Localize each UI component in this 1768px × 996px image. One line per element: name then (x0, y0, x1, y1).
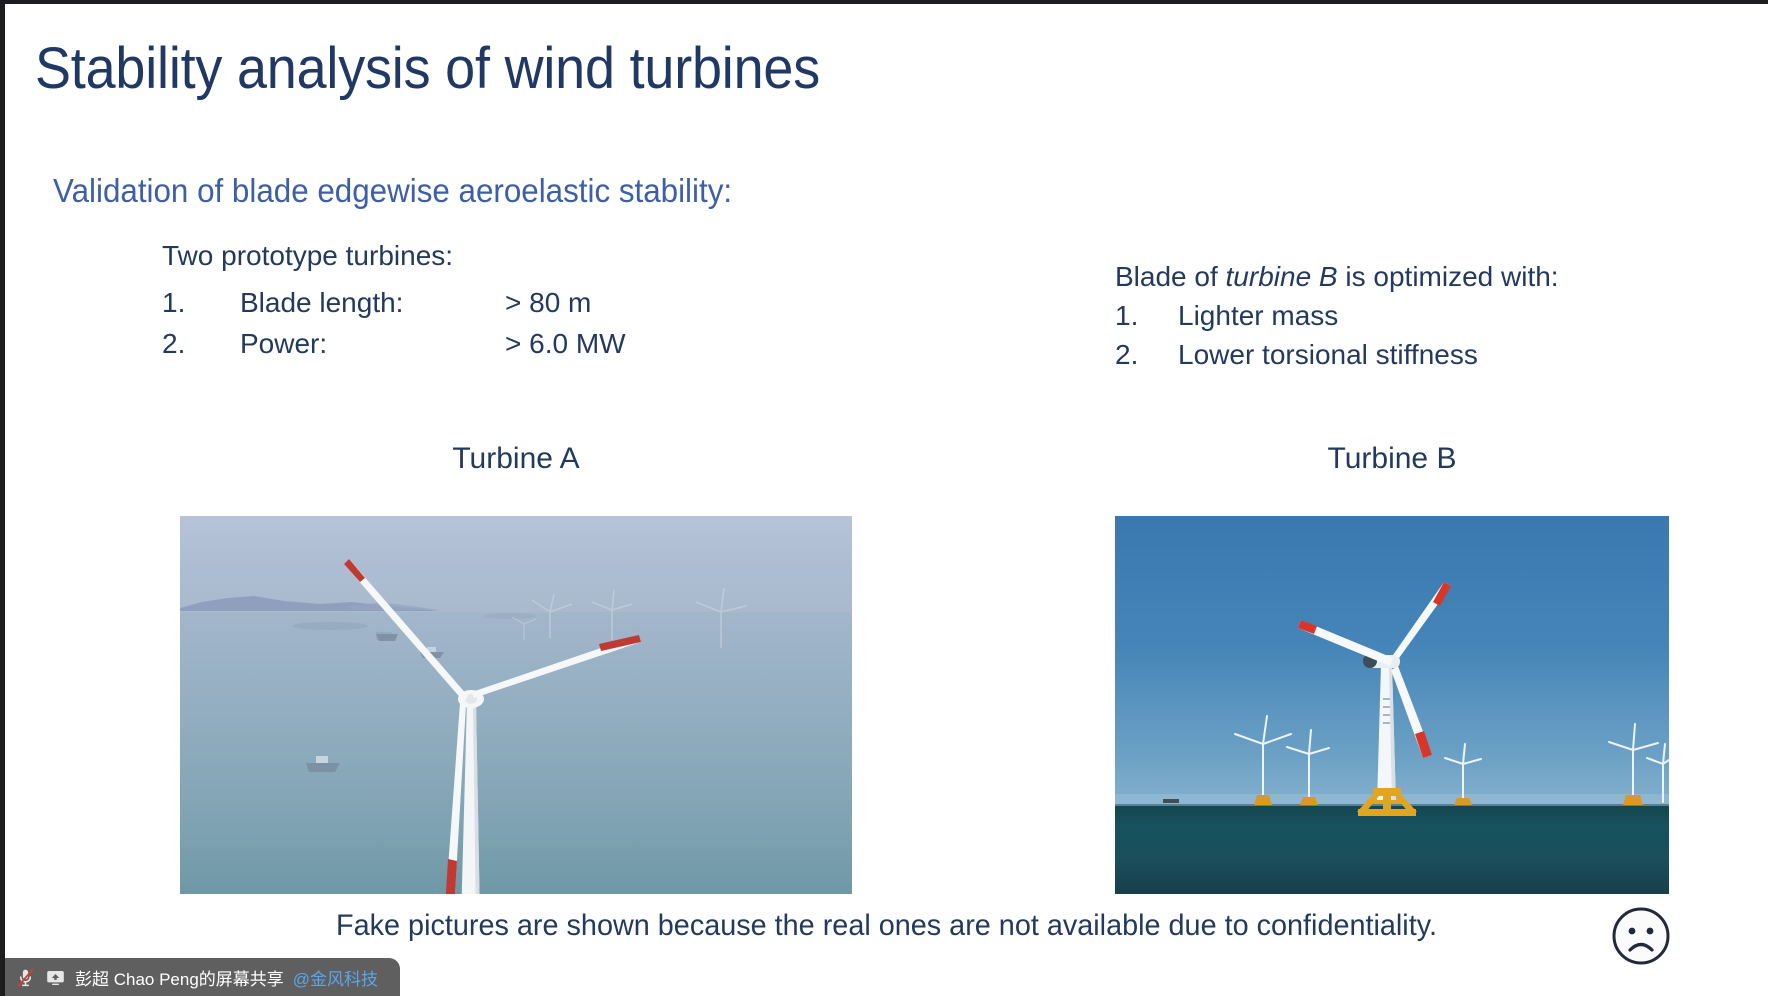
list-item-number: 1. (162, 287, 240, 319)
sad-face-icon (1609, 904, 1673, 968)
list-item-number: 1. (1115, 300, 1178, 332)
heading-text-after: is optimized with: (1338, 261, 1559, 292)
right-column-heading: Blade of turbine B is optimized with: (1115, 261, 1559, 293)
screen-share-status-bar[interactable]: 彭超 Chao Peng的屏幕共享 @金风科技 (5, 958, 400, 996)
list-item: 1. Lighter mass (1115, 300, 1559, 332)
list-item-value: > 6.0 MW (505, 328, 626, 360)
figure-image-turbine-a (180, 516, 852, 894)
screen-share-window: Stability analysis of wind turbines Vali… (0, 0, 1768, 996)
list-item-number: 2. (1115, 339, 1178, 371)
microphone-muted-icon[interactable] (15, 967, 36, 988)
heading-text-emphasis: turbine B (1226, 261, 1338, 292)
list-item-label: Power: (240, 328, 505, 360)
share-org-label: @金风科技 (293, 965, 378, 990)
figure-caption-turbine-a: Turbine A (180, 442, 852, 476)
page-title: Stability analysis of wind turbines (35, 40, 820, 98)
list-item-value: > 80 m (505, 287, 591, 319)
list-item-label: Lighter mass (1178, 300, 1338, 332)
presentation-slide: Stability analysis of wind turbines Vali… (5, 4, 1768, 996)
right-text-column: Blade of turbine B is optimized with: 1.… (1115, 261, 1559, 371)
figure-image-turbine-b (1115, 516, 1669, 894)
list-item-number: 2. (162, 328, 240, 360)
slide-subtitle: Validation of blade edgewise aeroelastic… (53, 172, 732, 210)
list-item: 2. Power: > 6.0 MW (162, 328, 626, 360)
share-owner-label: 彭超 Chao Peng的屏幕共享 (75, 965, 284, 990)
list-item-label: Blade length: (240, 287, 505, 319)
figure-caption-turbine-b: Turbine B (1115, 442, 1669, 476)
list-item: 2. Lower torsional stiffness (1115, 339, 1559, 371)
list-item-label: Lower torsional stiffness (1178, 339, 1478, 371)
list-item: 1. Blade length: > 80 m (162, 287, 626, 319)
confidentiality-footnote: Fake pictures are shown because the real… (40, 909, 1732, 943)
heading-text-before: Blade of (1115, 261, 1226, 292)
screen-share-icon[interactable] (45, 967, 66, 988)
left-column-heading: Two prototype turbines: (162, 240, 626, 272)
left-text-column: Two prototype turbines: 1. Blade length:… (162, 240, 626, 369)
